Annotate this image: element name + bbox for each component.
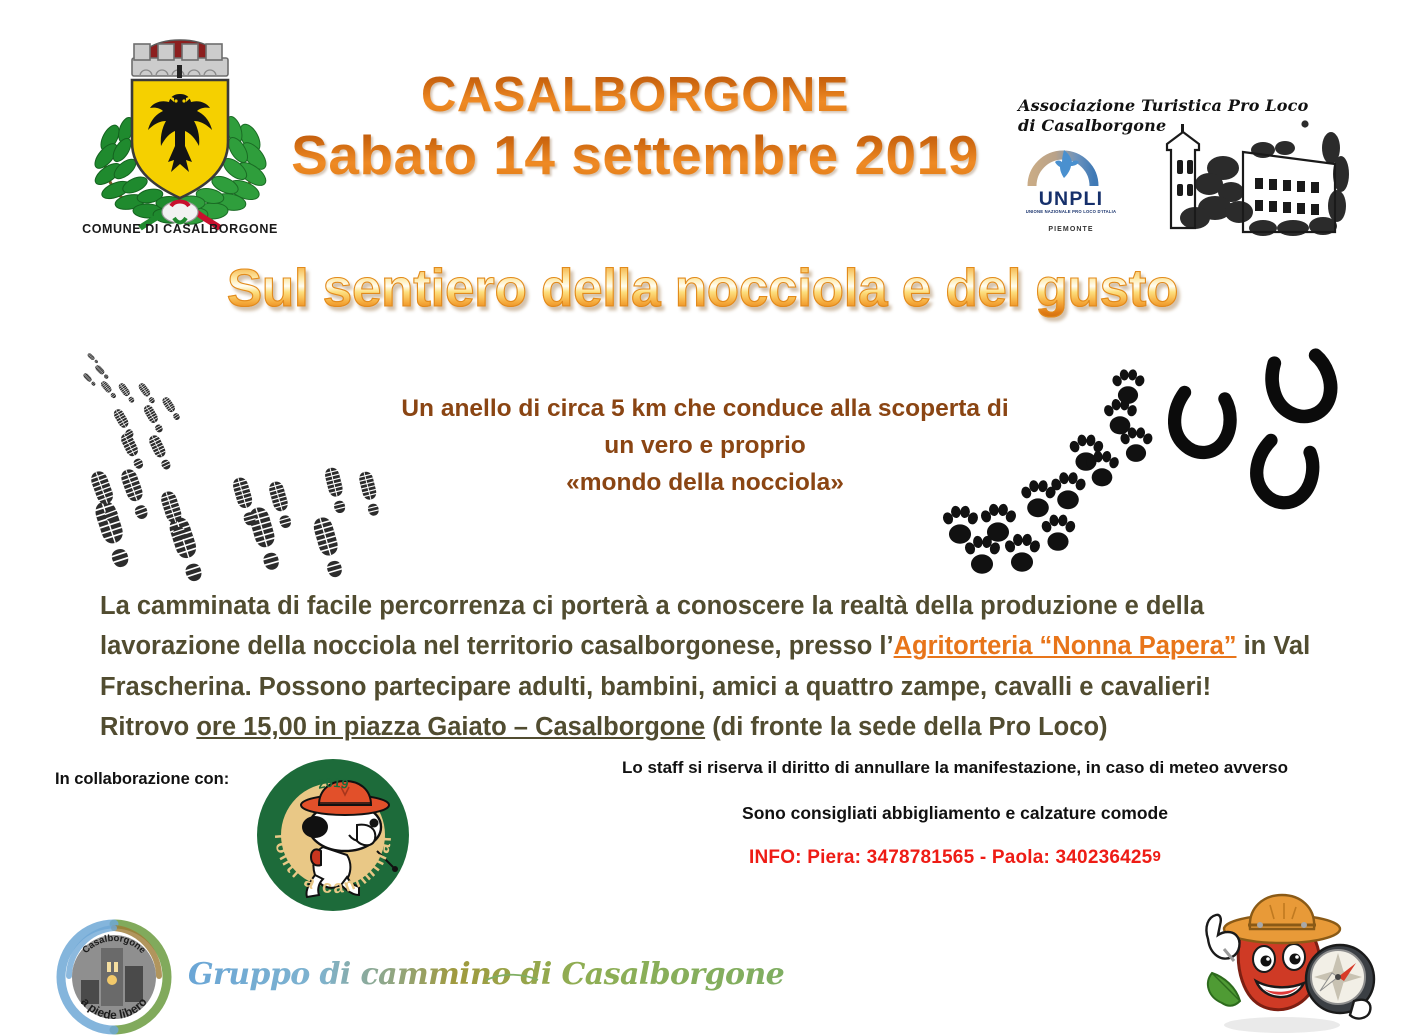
unpli-region-label: PIEMONTE: [1024, 226, 1118, 233]
main-headline-text: Sul sentiero della nocciola e del gusto: [227, 259, 1178, 318]
a-piede-libero-logo: Casalborgone a piede libero: [55, 918, 173, 1036]
coat-of-arms-caption: COMUNE DI CASALBORGONE: [60, 222, 300, 236]
body-segment-4: (di fronte la sede della Pro Loco): [705, 713, 1107, 741]
pro-loco-logo-block: Associazione Turistica Pro Loco di Casal…: [1000, 92, 1356, 244]
page-title: CASALBORGONE: [275, 70, 995, 121]
header-title-block: CASALBORGONE Sabato 14 settembre 2019: [275, 70, 995, 185]
contact-info-line: INFO: Piera: 3478781565 - Paola: 3402364…: [560, 847, 1350, 869]
contact-info-tail: 9: [1152, 848, 1161, 865]
unpli-wordmark: UNPLI: [1024, 188, 1118, 211]
unpli-subtitle: UNIONE NAZIONALE PRO LOCO D'ITALIA: [1024, 209, 1118, 215]
contact-info-main: INFO: Piera: 3478781565 - Paola: 3402364…: [749, 847, 1152, 868]
meeting-point-text: ore 15,00 in piazza Gaiato – Casalborgon…: [196, 713, 705, 741]
event-body-paragraph: La camminata di facile percorrenza ci po…: [100, 586, 1330, 747]
clothing-advice-note: Sono consigliati abbigliamento e calzatu…: [560, 803, 1350, 824]
horseshoe-trail-icon: [1155, 345, 1355, 525]
hazelnut-explorer-mascot-icon: [1178, 885, 1378, 1035]
gruppo-di-cammino-wordmark: Gruppo di cammino di Casalborgone: [186, 936, 546, 1006]
blurb-line-3: «mondo della nocciola»: [355, 464, 1055, 501]
collaboration-label: In collaborazione con:: [55, 770, 229, 789]
village-sketch-illustration: [1145, 108, 1350, 238]
pronti-a-camminare-badge: 2019 Pronti a camminare: [253, 755, 413, 915]
blurb-line-2: un vero e proprio: [355, 427, 1055, 464]
comune-coat-of-arms: [70, 22, 290, 244]
weather-disclaimer-note: Lo staff si riserva il diritto di annull…: [560, 758, 1350, 778]
blurb-line-1: Un anello di circa 5 km che conduce alla…: [355, 390, 1055, 427]
event-date: Sabato 14 settembre 2019: [275, 127, 995, 185]
body-segment-3: Ritrovo: [100, 713, 196, 741]
unpli-logo: UNPLI UNIONE NAZIONALE PRO LOCO D'ITALIA…: [1024, 144, 1118, 240]
main-headline: Sul sentiero della nocciola e del gusto: [0, 258, 1405, 319]
event-description-blurb: Un anello di circa 5 km che conduce alla…: [355, 390, 1055, 502]
boot-footprint-trail-icon: [58, 340, 388, 570]
agritorteria-link[interactable]: Agritorteria “Nonna Papera”: [894, 632, 1237, 660]
event-poster: COMUNE DI CASALBORGONE CASALBORGONE Saba…: [0, 0, 1405, 1036]
gruppo-script-text: Gruppo di cammino di Casalborgone: [188, 957, 784, 992]
